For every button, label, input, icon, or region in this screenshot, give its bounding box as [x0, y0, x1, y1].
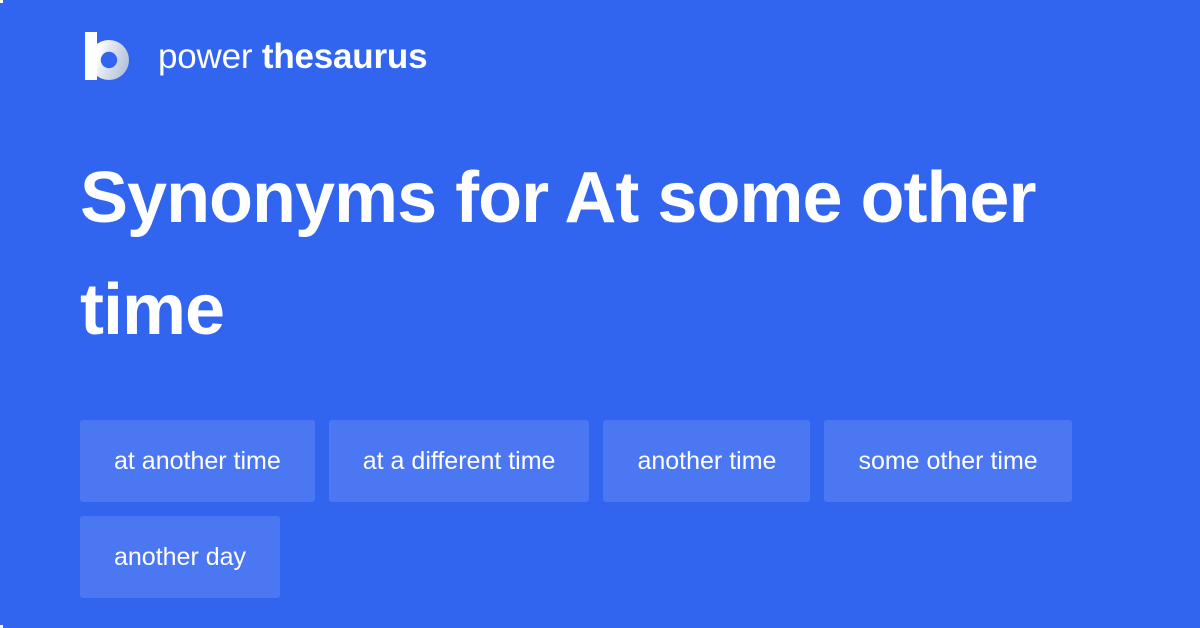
- power-thesaurus-b-logo-icon: [80, 30, 132, 82]
- synonym-chip[interactable]: at another time: [80, 420, 315, 502]
- share-card: power thesaurus Synonyms for At some oth…: [0, 0, 1200, 628]
- corner-artifact-top-left: [0, 0, 3, 3]
- brand-wordmark: power thesaurus: [158, 39, 427, 74]
- synonym-chip[interactable]: at a different time: [329, 420, 590, 502]
- brand-header[interactable]: power thesaurus: [80, 26, 427, 86]
- brand-wordmark-power: power: [158, 37, 252, 76]
- synonym-chip[interactable]: another day: [80, 516, 280, 598]
- synonym-chip[interactable]: another time: [603, 420, 810, 502]
- synonym-chip[interactable]: some other time: [824, 420, 1071, 502]
- brand-wordmark-thesaurus: thesaurus: [262, 37, 427, 76]
- page-title: Synonyms for At some other time: [80, 142, 1040, 366]
- synonym-chip-list: at another time at a different time anot…: [80, 420, 1120, 598]
